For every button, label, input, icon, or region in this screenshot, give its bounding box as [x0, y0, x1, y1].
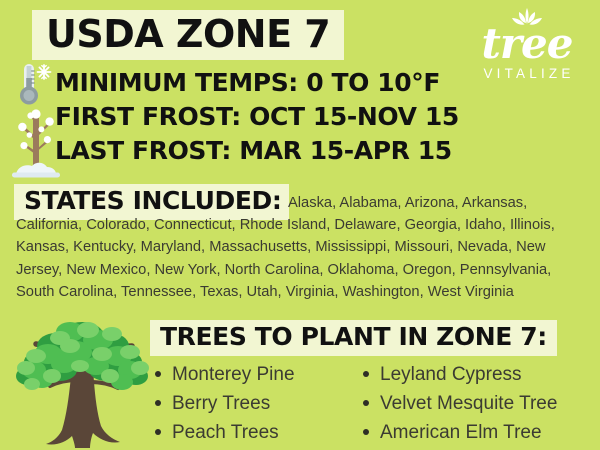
page-title: USDA ZONE 7 — [46, 12, 330, 56]
tree-name: Berry Trees — [172, 393, 270, 414]
tree-name: Leyland Cypress — [380, 364, 522, 385]
climate-facts: MINIMUM TEMPS: 0 TO 10°F FIRST FROST: OC… — [55, 66, 515, 168]
fact-minimum-temps: MINIMUM TEMPS: 0 TO 10°F — [55, 66, 515, 100]
leafy-tree-icon — [12, 318, 150, 450]
states-list: Alaska, Alabama, Arizona, Arkansas, Cali… — [16, 192, 582, 303]
bullet-icon — [363, 429, 369, 435]
thermometer-snowflake-icon — [14, 62, 56, 110]
tree-name: Peach Trees — [172, 422, 279, 443]
page-title-banner: USDA ZONE 7 — [32, 10, 344, 60]
trees-column-left: Monterey Pine Berry Trees Peach Trees — [150, 360, 358, 447]
trees-heading-banner: TREES TO PLANT IN ZONE 7: — [150, 320, 557, 356]
bullet-icon — [155, 429, 161, 435]
bullet-icon — [155, 371, 161, 377]
list-item: Berry Trees — [150, 389, 358, 418]
zone-7-infographic: tree VITALIZE USDA ZONE 7 — [0, 0, 600, 450]
tree-name: Velvet Mesquite Tree — [380, 393, 557, 414]
list-item: Monterey Pine — [150, 360, 358, 389]
tree-name: American Elm Tree — [380, 422, 542, 443]
fact-first-frost: FIRST FROST: OCT 15-NOV 15 — [55, 100, 515, 134]
trees-heading: TREES TO PLANT IN ZONE 7: — [160, 322, 547, 351]
list-item: Velvet Mesquite Tree — [358, 389, 595, 418]
bullet-icon — [363, 371, 369, 377]
tree-name: Monterey Pine — [172, 364, 295, 385]
list-item: Peach Trees — [150, 418, 358, 447]
logo-wordmark: tree — [462, 22, 592, 66]
fact-last-frost: LAST FROST: MAR 15-APR 15 — [55, 134, 515, 168]
list-item: Leyland Cypress — [358, 360, 595, 389]
bullet-icon — [363, 400, 369, 406]
trees-column-right: Leyland Cypress Velvet Mesquite Tree Ame… — [358, 360, 595, 447]
trees-to-plant-lists: Monterey Pine Berry Trees Peach Trees Le… — [150, 360, 595, 447]
bullet-icon — [155, 400, 161, 406]
list-item: American Elm Tree — [358, 418, 595, 447]
